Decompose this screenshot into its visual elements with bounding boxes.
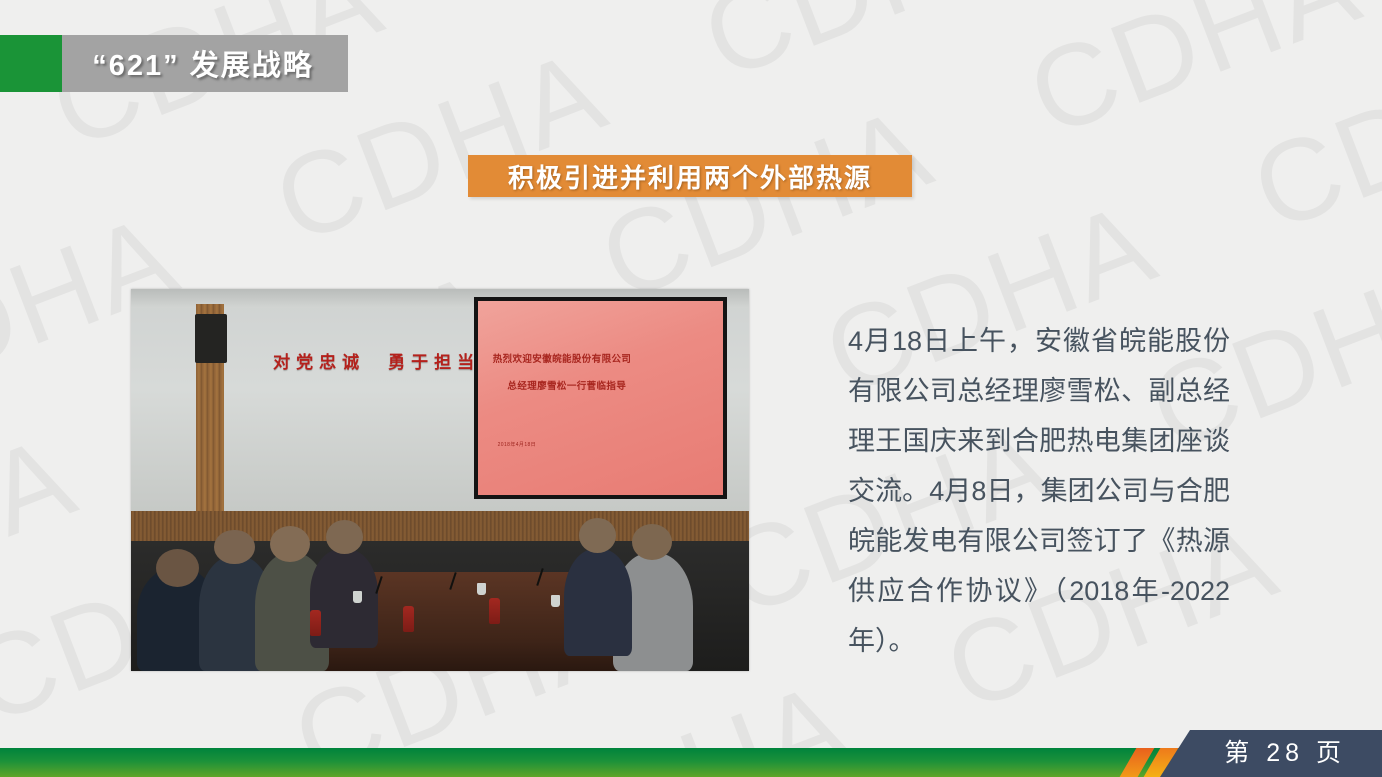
photo-attendee-head	[270, 526, 310, 562]
header-gray-bar: “621” 发展战略	[62, 35, 348, 92]
photo-attendee-head	[214, 530, 254, 564]
photo-projection-screen: 热烈欢迎安徽皖能股份有限公司 总经理廖雪松一行菅临指导 2018年4月18日	[478, 301, 723, 495]
photo-screen-line-1: 热烈欢迎安徽皖能股份有限公司	[493, 351, 632, 365]
body-paragraph: 4月18日上午，安徽省皖能股份有限公司总经理廖雪松、副总经理王国庆来到合肥热电集…	[848, 316, 1230, 666]
watermark-text: CDHA	[585, 84, 948, 323]
watermark-text: CDHA	[463, 0, 826, 7]
watermark-text: CDHA	[688, 0, 1051, 102]
watermark-text: CDHA	[1237, 15, 1382, 254]
photo-attendee-head	[326, 520, 363, 554]
footer-green-bar	[0, 748, 1180, 777]
photo-cup	[551, 595, 560, 607]
photo-bottle	[403, 606, 414, 632]
slide-footer: 第 28 页	[0, 725, 1382, 777]
photo-attendee	[564, 549, 632, 656]
photo-projection-frame: 热烈欢迎安徽皖能股份有限公司 总经理廖雪松一行菅临指导 2018年4月18日	[474, 297, 727, 499]
section-banner-label: 积极引进并利用两个外部热源	[508, 158, 872, 195]
watermark-text: CDHA	[1013, 0, 1376, 158]
photo-bottle	[489, 598, 500, 624]
photo-attendee-head	[579, 518, 616, 552]
photo-cup	[353, 591, 362, 603]
photo-cup	[477, 583, 486, 595]
photo-attendee-head	[632, 524, 672, 560]
page-title: “621” 发展战略	[92, 42, 317, 86]
photo-screen-date: 2018年4月18日	[498, 441, 536, 448]
photo-screen-line-2: 总经理廖雪松一行菅临指导	[507, 378, 626, 392]
watermark-text: CDHA	[0, 413, 91, 652]
slide-header: “621” 发展战略	[0, 35, 348, 92]
photo-bottle	[310, 610, 321, 636]
section-banner: 积极引进并利用两个外部热源	[468, 155, 912, 197]
photo-attendee-head	[156, 549, 199, 587]
meeting-photo: 对党忠诚 勇于担当 作为 清正廉洁 热烈欢迎安徽皖能股份有限公司 总经理廖雪松一…	[131, 289, 749, 671]
header-green-block	[0, 35, 62, 92]
photo-speaker	[195, 314, 227, 364]
slide-canvas: CDHA CDHA CDHA CDHA CDHA CDHA CDHA CDHA …	[0, 0, 1382, 777]
watermark-text: CDHA	[1358, 331, 1382, 570]
page-number: 第 28 页	[1224, 733, 1346, 769]
